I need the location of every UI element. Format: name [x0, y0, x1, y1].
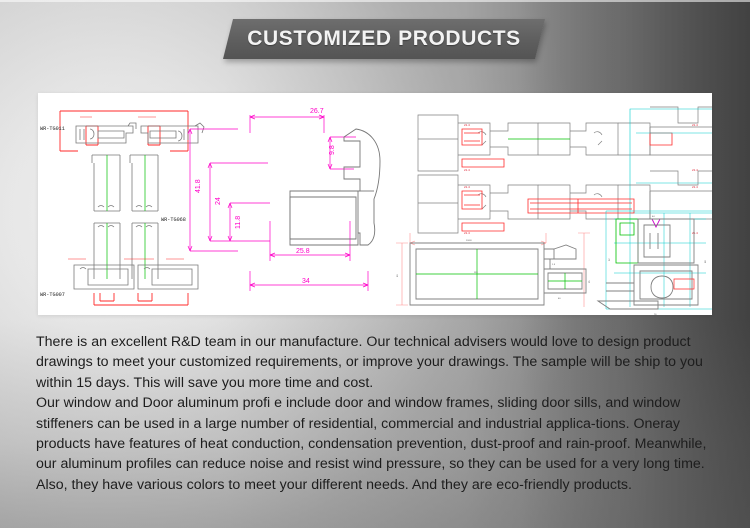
cad-label-wr-tg007: WR-TG007	[40, 292, 65, 298]
description-paragraph-1: There is an excellent R&D team in our ma…	[36, 332, 718, 393]
dimension-26-7: 26.7	[310, 108, 324, 115]
dimension-34: 34	[302, 278, 310, 285]
description-paragraph-2: Our window and Door aluminum profi e inc…	[36, 393, 718, 495]
dimension-11-8: 11.8	[235, 216, 242, 229]
rhs-dim-height: 60	[397, 274, 399, 277]
right-profile-array: 21.4 21.4 21.4 21.4 21.4 21.4 21.4 21.4	[418, 107, 712, 235]
page-top-edge	[0, 0, 750, 2]
section-banner: CUSTOMIZED PRODUCTS	[228, 19, 540, 59]
rectangular-hollow-section: 124.8 60 119 1.5 25 40	[396, 233, 591, 307]
banner-title: CUSTOMIZED PRODUCTS	[228, 19, 540, 59]
corner-dim-top: 44	[652, 216, 655, 218]
rhs-dim-side: 25	[589, 280, 591, 283]
dimension-24: 24	[215, 197, 222, 205]
dimension-25-8: 25.8	[296, 248, 310, 255]
annotation-r1a: 21.4	[464, 123, 470, 127]
corner-dim-left: 52	[609, 258, 611, 261]
annotation-r1b: 21.4	[464, 168, 470, 172]
annotation-r1c: 21.4	[692, 123, 698, 127]
cad-drawings-svg: WR-TG011 WR-TG007 WR-TG068	[38, 93, 712, 315]
drawing-panel: WR-TG011 WR-TG007 WR-TG068	[38, 93, 712, 315]
dimension-41-8: 41.8	[195, 179, 202, 193]
annotation-r2b: 21.4	[464, 231, 470, 235]
far-right-corner-section: 44 52 68 76	[598, 211, 712, 315]
middle-gasket-section: 26.7 9.8 41.8 24 11.8 25.8 34	[188, 108, 380, 291]
rhs-dim-width: 124.8	[466, 240, 472, 242]
corner-dim-bottom: 76	[654, 314, 657, 315]
rhs-dim-bottom: 40	[558, 298, 561, 300]
corner-dim-right: 68	[705, 260, 707, 263]
dimension-9-8: 9.8	[329, 145, 336, 155]
cad-label-wr-tg068: WR-TG068	[161, 217, 186, 223]
cad-label-wr-tg011: WR-TG011	[40, 126, 65, 132]
rhs-dim-small: 1.5	[552, 264, 556, 266]
description-text-block: There is an excellent R&D team in our ma…	[36, 332, 718, 495]
annotation-r1d: 21.4	[692, 168, 698, 172]
annotation-r2d: 21.4	[692, 231, 698, 235]
annotation-r2a: 21.4	[464, 185, 470, 189]
left-window-section: WR-TG011 WR-TG007 WR-TG068	[40, 111, 204, 305]
annotation-r2c: 21.4	[692, 185, 698, 189]
